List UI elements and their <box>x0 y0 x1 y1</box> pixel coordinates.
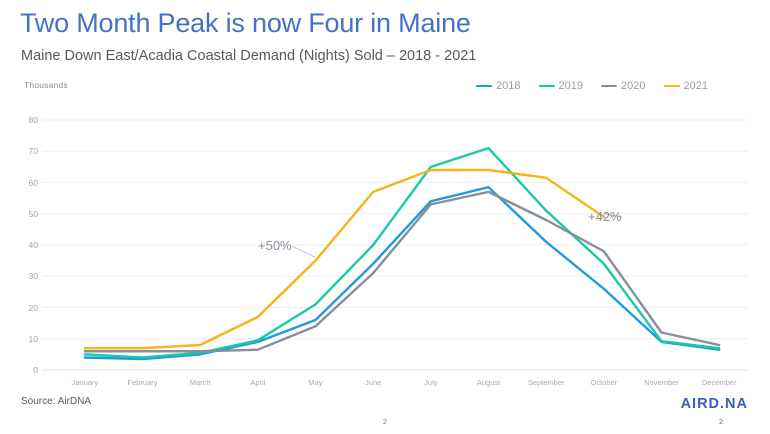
x-axis-tick-december: December <box>702 378 737 387</box>
line-chart-svg <box>0 72 770 390</box>
page-number-center: 2 <box>383 419 387 426</box>
x-axis-tick-august: August <box>477 378 500 387</box>
x-axis-tick-january: January <box>71 378 98 387</box>
series-line-2021[interactable] <box>85 170 604 348</box>
page-number-right: 2 <box>719 419 723 426</box>
x-axis-tick-march: March <box>190 378 211 387</box>
x-axis-tick-september: September <box>528 378 565 387</box>
page-subtitle: Maine Down East/Acadia Coastal Demand (N… <box>21 48 476 64</box>
x-axis-tick-april: April <box>250 378 265 387</box>
y-axis-tick-30: 30 <box>14 271 38 281</box>
x-axis-tick-february: February <box>127 378 157 387</box>
x-axis-tick-june: June <box>365 378 381 387</box>
y-axis-tick-10: 10 <box>14 334 38 344</box>
series-line-2020[interactable] <box>85 192 719 351</box>
annotation-50: +50% <box>258 238 292 253</box>
airdna-logo: AIRD.NA <box>681 396 748 412</box>
annotation-leader-line <box>292 246 316 258</box>
series-line-2019[interactable] <box>85 148 719 357</box>
slide: Two Month Peak is now Four in Maine Main… <box>0 0 770 434</box>
source-note: Source: AirDNA <box>21 396 91 407</box>
y-axis-tick-20: 20 <box>14 303 38 313</box>
y-axis-tick-40: 40 <box>14 240 38 250</box>
chart-container: Thousands 2018201920202021 0102030405060… <box>0 72 770 390</box>
y-axis-tick-70: 70 <box>14 146 38 156</box>
y-axis-tick-50: 50 <box>14 209 38 219</box>
x-axis-tick-may: May <box>308 378 322 387</box>
x-axis-tick-july: July <box>424 378 437 387</box>
annotation-42: +42% <box>588 209 622 224</box>
chart-plot-area: 01020304050607080JanuaryFebruaryMarchApr… <box>0 72 770 390</box>
page-title: Two Month Peak is now Four in Maine <box>20 8 471 39</box>
y-axis-tick-0: 0 <box>14 365 38 375</box>
y-axis-tick-80: 80 <box>14 115 38 125</box>
x-axis-tick-november: November <box>644 378 679 387</box>
y-axis-tick-60: 60 <box>14 178 38 188</box>
series-line-2018[interactable] <box>85 187 719 359</box>
x-axis-tick-october: October <box>590 378 617 387</box>
